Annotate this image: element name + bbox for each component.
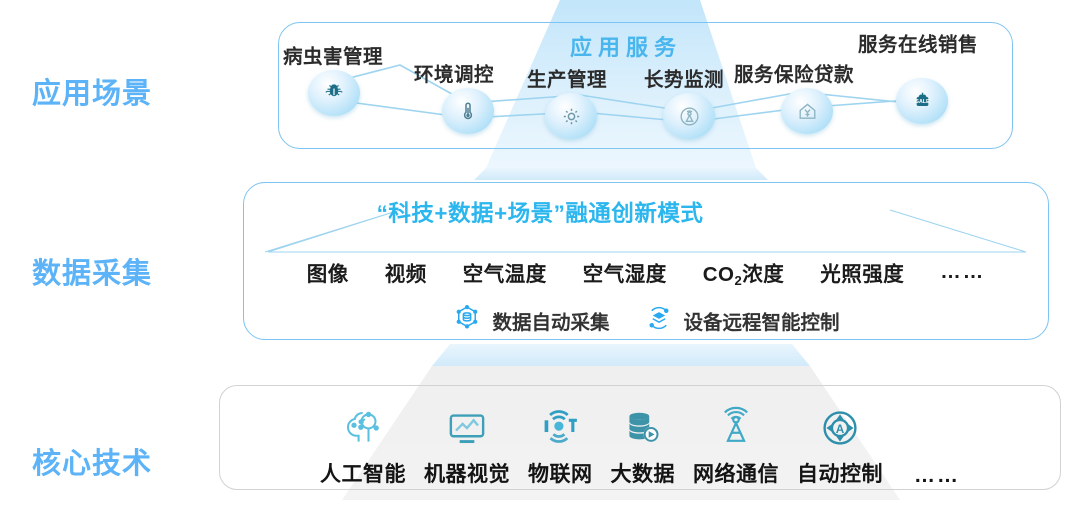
app-node-insurance-label: 服务保险贷款 xyxy=(734,58,854,87)
tech-item-machine-vision[interactable]: 机器视觉 xyxy=(424,404,510,488)
house-yuan-icon xyxy=(781,88,833,134)
thermometer-icon xyxy=(442,88,494,134)
tech-item-ai-label: 人工智能 xyxy=(320,458,406,488)
technology-layer: 人工智能 机器视觉 xyxy=(219,396,1061,488)
data-action-remote-control[interactable]: 设备远程智能控制 xyxy=(644,303,840,338)
data-action-auto-collect-label: 数据自动采集 xyxy=(492,306,609,335)
data-item-ellipsis: …… xyxy=(940,260,985,284)
tech-item-auto-control-label: 自动控制 xyxy=(797,458,883,488)
data-item-co2: CO2浓度 xyxy=(703,257,784,287)
antenna-icon xyxy=(714,404,758,452)
application-banner-title: 应用服务 xyxy=(570,30,682,62)
app-node-online-sales-label: 服务在线销售 xyxy=(858,28,978,57)
monitor-chart-icon xyxy=(445,404,489,452)
row-label-technology: 核心技术 xyxy=(32,440,152,482)
tech-item-auto-control[interactable]: A 自动控制 xyxy=(797,404,883,488)
tech-item-big-data-label: 大数据 xyxy=(611,458,676,488)
data-action-remote-control-label: 设备远程智能控制 xyxy=(684,306,840,335)
tech-item-machine-vision-label: 机器视觉 xyxy=(424,458,510,488)
iot-icon xyxy=(538,404,582,452)
diagram-canvas: 应用场景 数据采集 核心技术 病虫害管理 环境调控 xyxy=(0,0,1080,512)
big-data-icon xyxy=(621,404,665,452)
row-label-application: 应用场景 xyxy=(32,70,152,112)
row-label-data: 数据采集 xyxy=(32,250,152,292)
app-node-pest-label: 病虫害管理 xyxy=(283,40,383,69)
data-action-list: 数据自动采集 设备远程智能控制 xyxy=(243,300,1049,340)
app-node-production-label: 生产管理 xyxy=(527,63,607,92)
sale-tag-icon: SALE xyxy=(896,78,948,124)
ai-head-icon xyxy=(341,404,385,452)
tech-item-big-data[interactable]: 大数据 xyxy=(611,404,676,488)
svg-text:SALE: SALE xyxy=(915,99,930,105)
tech-item-iot[interactable]: 物联网 xyxy=(528,404,593,488)
application-layer: 病虫害管理 环境调控 应用服务 生产管理 xyxy=(0,0,1080,170)
tech-item-ai[interactable]: 人工智能 xyxy=(320,404,406,488)
gear-icon xyxy=(545,93,597,139)
tech-item-network[interactable]: 网络通信 xyxy=(693,404,779,488)
signal-tower-icon xyxy=(663,93,715,139)
data-item: 图像 xyxy=(307,257,349,287)
tech-item-ellipsis: …… xyxy=(914,410,960,488)
tech-item-network-label: 网络通信 xyxy=(693,458,779,488)
data-action-auto-collect[interactable]: 数据自动采集 xyxy=(452,303,609,338)
data-heading: “科技+数据+场景”融通创新模式 xyxy=(0,196,1080,228)
tech-item-ellipsis-label: …… xyxy=(914,464,960,488)
app-node-growth-label: 长势监测 xyxy=(644,63,724,92)
data-item: 光照强度 xyxy=(820,257,904,287)
data-item-list: 图像 视频 空气温度 空气湿度 CO2浓度 光照强度 …… xyxy=(243,256,1049,288)
svg-text:A: A xyxy=(836,423,845,436)
bug-icon xyxy=(308,70,360,116)
data-item: 视频 xyxy=(385,257,427,287)
data-item: 空气温度 xyxy=(463,257,547,287)
auto-control-icon: A xyxy=(818,404,862,452)
data-item: 空气湿度 xyxy=(583,257,667,287)
app-node-environment-label: 环境调控 xyxy=(414,58,494,87)
layers-circle-icon xyxy=(644,303,674,338)
tech-item-iot-label: 物联网 xyxy=(528,458,593,488)
database-hex-icon xyxy=(452,303,482,338)
